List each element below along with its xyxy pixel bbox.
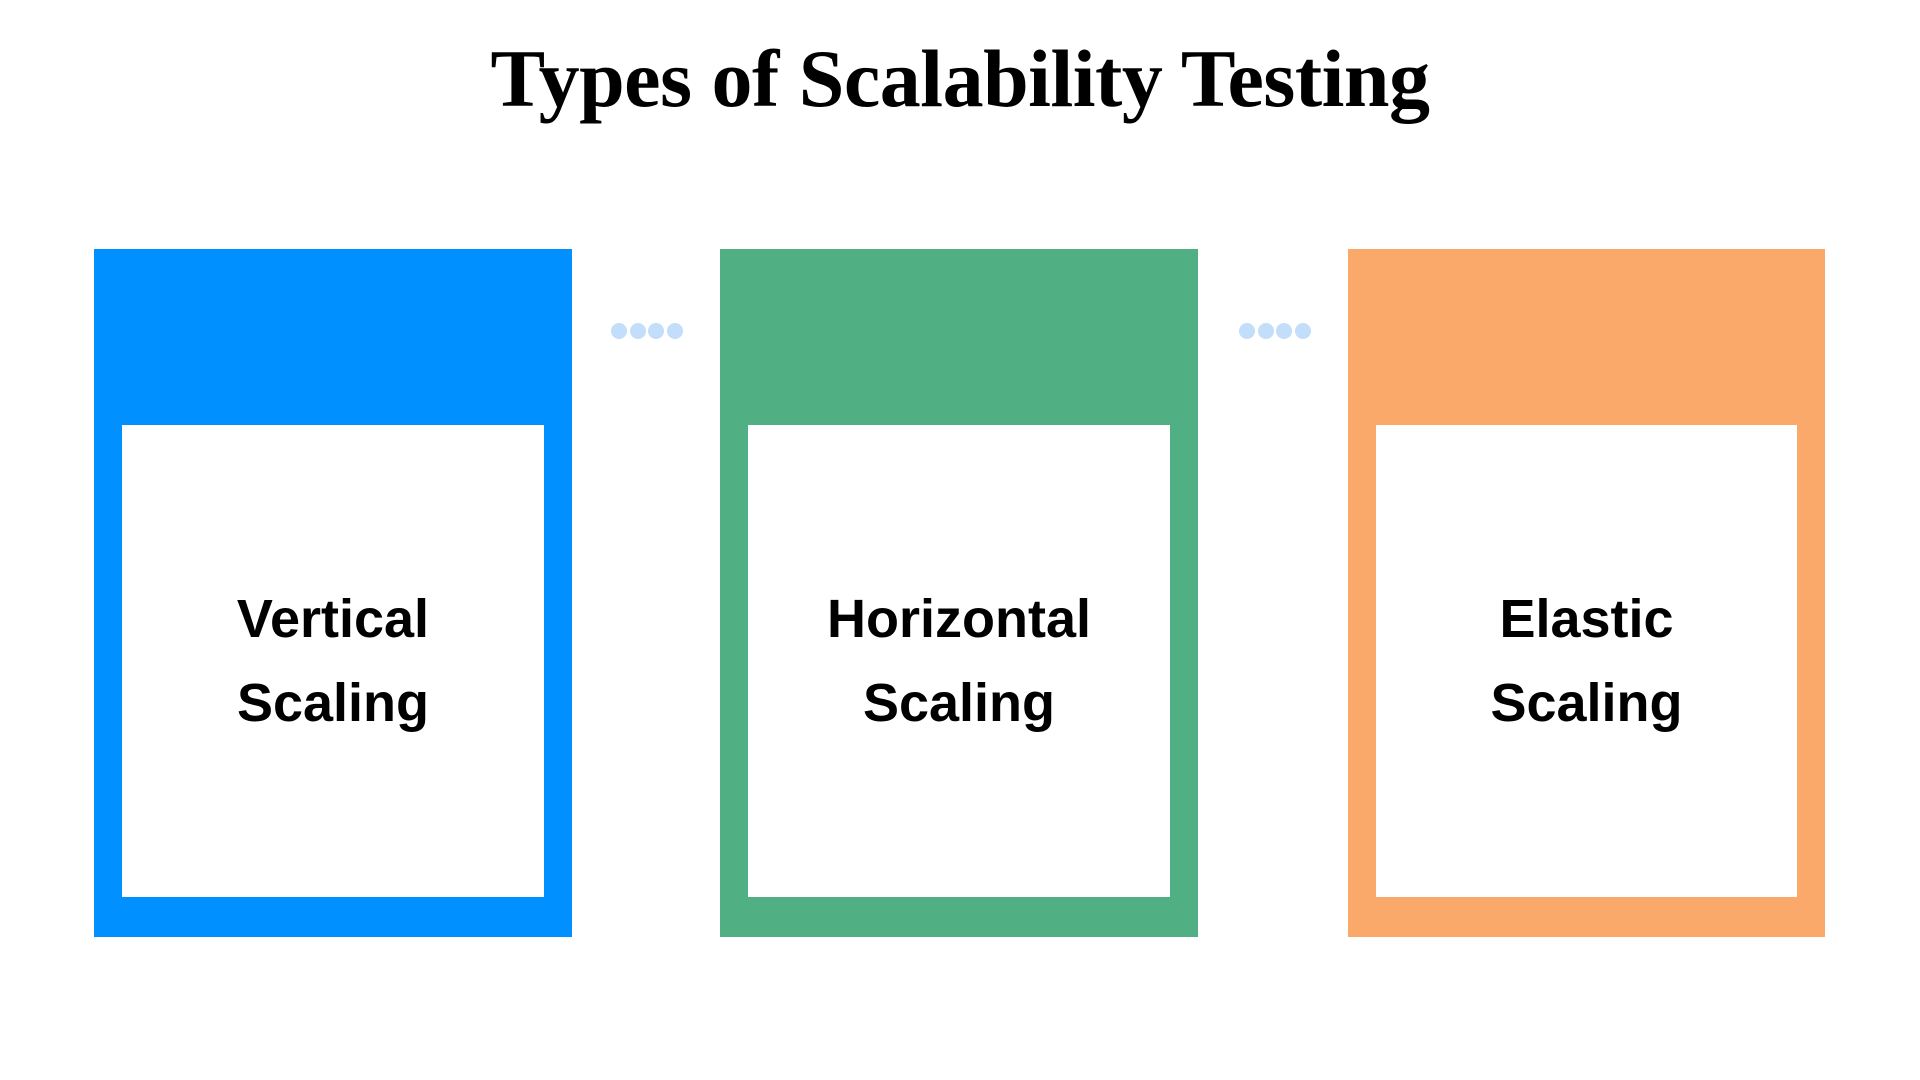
card-horizontal-scaling-label-line1: Horizontal bbox=[827, 577, 1091, 661]
connector-dot bbox=[648, 323, 664, 339]
card-horizontal-scaling-label-line2: Scaling bbox=[863, 661, 1055, 745]
connector-dots-2 bbox=[1239, 323, 1311, 339]
connector-dot bbox=[1239, 323, 1255, 339]
card-vertical-scaling-label-line1: Vertical bbox=[237, 577, 429, 661]
card-elastic-scaling[interactable]: Elastic Scaling bbox=[1348, 249, 1825, 937]
card-elastic-scaling-label-line1: Elastic bbox=[1499, 577, 1673, 661]
connector-dot bbox=[611, 323, 627, 339]
card-horizontal-scaling[interactable]: Horizontal Scaling bbox=[720, 249, 1198, 937]
connector-dot bbox=[630, 323, 646, 339]
card-vertical-scaling-inner: Vertical Scaling bbox=[122, 425, 544, 897]
card-elastic-scaling-label-line2: Scaling bbox=[1490, 661, 1682, 745]
connector-dot bbox=[1276, 323, 1292, 339]
connector-dot bbox=[1258, 323, 1274, 339]
card-horizontal-scaling-inner: Horizontal Scaling bbox=[748, 425, 1170, 897]
card-vertical-scaling-label-line2: Scaling bbox=[237, 661, 429, 745]
card-elastic-scaling-inner: Elastic Scaling bbox=[1376, 425, 1797, 897]
scalability-types-diagram: Vertical Scaling Horizontal Scaling Elas… bbox=[0, 0, 1920, 1080]
connector-dots-1 bbox=[611, 323, 683, 339]
connector-dot bbox=[667, 323, 683, 339]
card-vertical-scaling[interactable]: Vertical Scaling bbox=[94, 249, 572, 937]
connector-dot bbox=[1295, 323, 1311, 339]
